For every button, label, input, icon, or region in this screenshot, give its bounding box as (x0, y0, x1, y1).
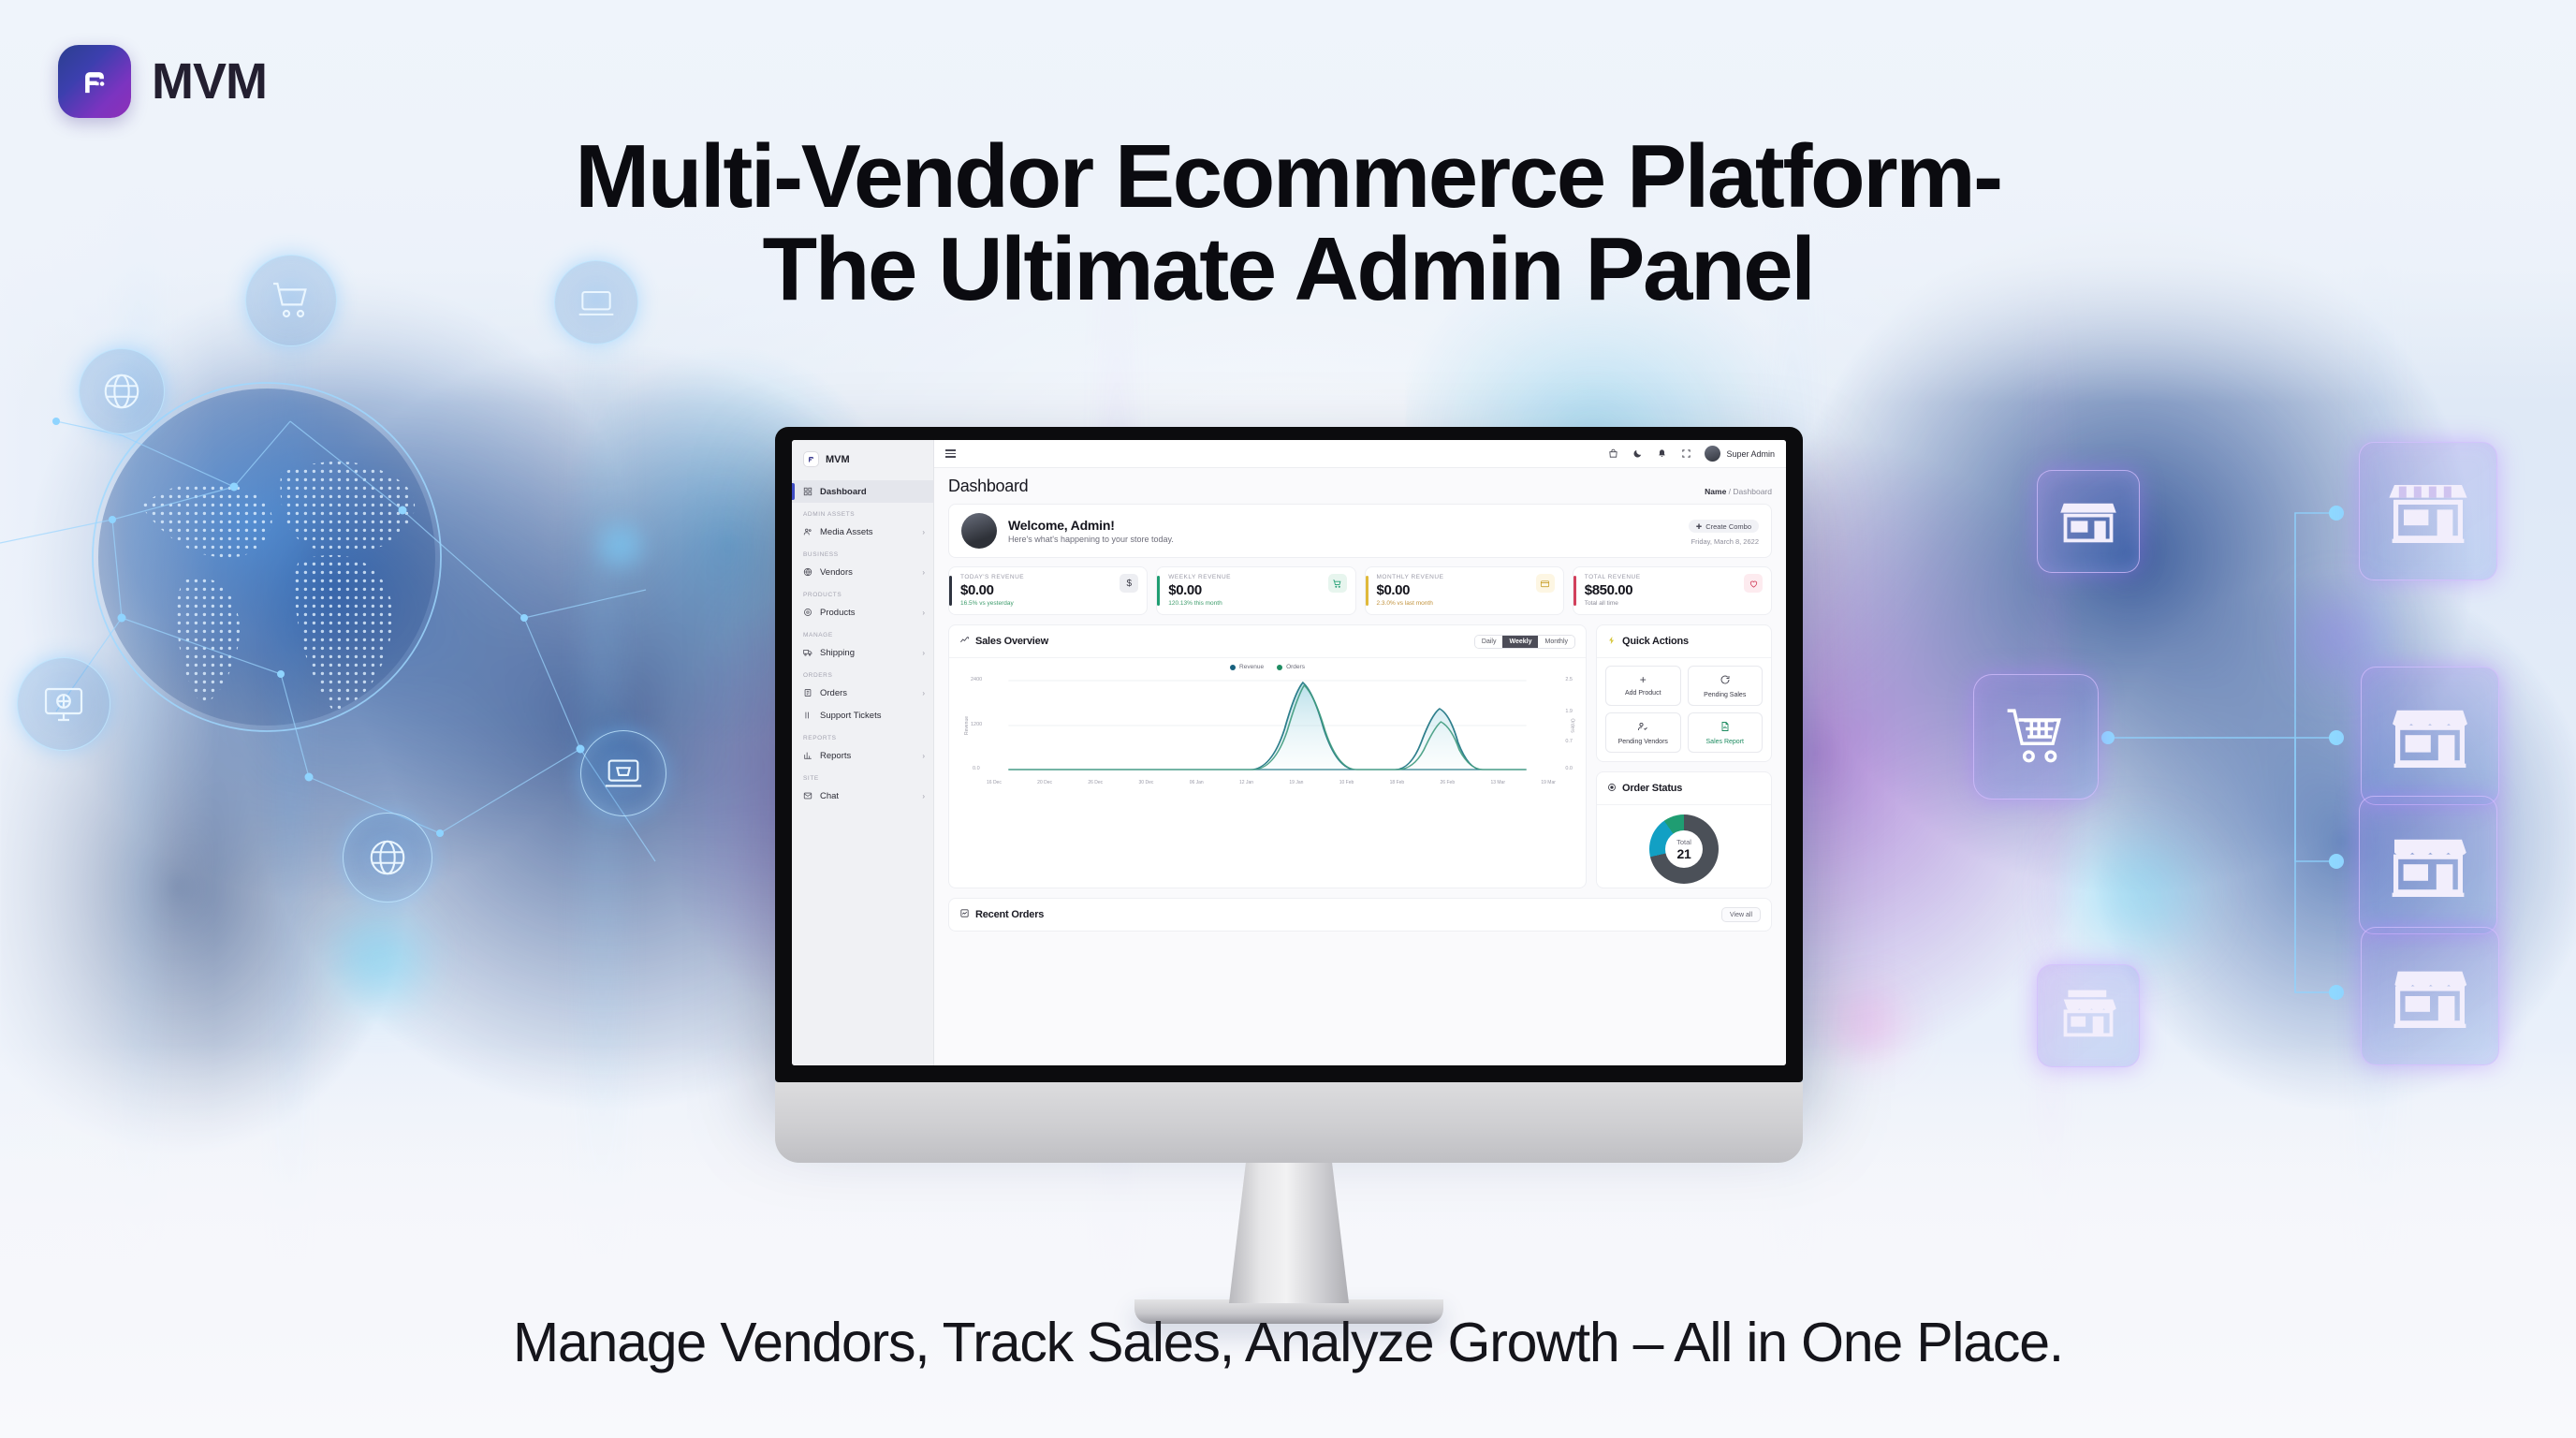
chart-svg (959, 673, 1576, 778)
monitor-stand-neck (1229, 1163, 1349, 1303)
user-check-icon (1610, 721, 1676, 734)
quick-actions-header: Quick Actions (1597, 625, 1771, 658)
sales-report-button[interactable]: Sales Report (1688, 712, 1764, 753)
button-label: Sales Report (1692, 739, 1759, 745)
welcome-meta: ✚ Create Combo Friday, March 8, 2622 (1689, 517, 1759, 546)
sidebar-item-support-tickets[interactable]: Support Tickets (792, 704, 933, 726)
stat-card-monthly-revenue: MONTHLY REVENUE $0.00 2.3.0% vs last mon… (1365, 566, 1564, 615)
order-status-card: Order Status Total 21 (1596, 771, 1772, 888)
breadcrumb-root[interactable]: Name (1705, 487, 1726, 496)
donut-center: Total 21 (1649, 814, 1719, 884)
legend-item-revenue: Revenue (1230, 664, 1264, 670)
segment-monthly[interactable]: Monthly (1538, 636, 1574, 648)
recent-orders-header: Recent Orders View all (949, 899, 1771, 931)
chart-x-tick: 12 Jan (1239, 780, 1253, 785)
grid-icon (802, 486, 813, 497)
welcome-text: Welcome, Admin! Here's what's happening … (1008, 518, 1174, 544)
avatar (961, 513, 997, 549)
right-column: Quick Actions + Add Product (1596, 624, 1772, 888)
breadcrumb-current: Dashboard (1733, 487, 1772, 496)
document-icon (1692, 721, 1759, 734)
dashboard-main: Super Admin Dashboard Name / Dashboard (934, 440, 1786, 1065)
storefront-icon (2359, 442, 2497, 580)
sidebar-item-label: Dashboard (820, 487, 925, 497)
sidebar-item-dashboard[interactable]: Dashboard (792, 480, 933, 503)
store-icon (802, 566, 813, 578)
stat-delta: 16.5% vs yesterday (960, 600, 1120, 607)
sidebar-section-label: BUSINESS (792, 543, 933, 561)
globe-icon (343, 813, 432, 902)
stat-delta: 120.13% this month (1168, 600, 1327, 607)
view-all-button[interactable]: View all (1721, 907, 1761, 922)
truck-icon (802, 647, 813, 658)
wallet-icon (1536, 574, 1555, 593)
dashboard-screen: MVM Dashboard ADMIN ASSETS Media Assets … (792, 440, 1786, 1065)
stat-label: TOTAL REVENUE (1585, 574, 1744, 580)
stat-label: TODAY'S REVENUE (960, 574, 1120, 580)
legend-label: Orders (1286, 664, 1305, 670)
donut-label: Total (1676, 838, 1691, 846)
chevron-right-icon: › (922, 792, 925, 800)
decor-vendor-tree-right (1921, 393, 2576, 1077)
button-label: Pending Sales (1692, 692, 1759, 698)
chevron-right-icon: › (922, 752, 925, 760)
welcome-card: Welcome, Admin! Here's what's happening … (948, 504, 1772, 558)
sidebar-item-shipping[interactable]: Shipping › (792, 641, 933, 664)
chart-x-tick: 10 Feb (1339, 780, 1354, 785)
sidebar-section-label: REPORTS (792, 726, 933, 744)
chart-x-tick: 16 Dec (987, 780, 1002, 785)
stat-card-total-revenue: TOTAL REVENUE $850.00 Total all time (1573, 566, 1772, 615)
bell-icon[interactable] (1656, 448, 1668, 460)
stat-value: $0.00 (1377, 582, 1536, 598)
storefront-icon (2361, 927, 2499, 1065)
sidebar: MVM Dashboard ADMIN ASSETS Media Assets … (792, 440, 934, 1065)
receipt-icon (959, 906, 970, 923)
chevron-right-icon: › (922, 649, 925, 657)
stat-label: WEEKLY REVENUE (1168, 574, 1327, 580)
dashboard-grid: Sales Overview Daily Weekly Monthly Reve… (948, 624, 1772, 888)
chart-plot-area: Revenue Orders 2400 1200 0.0 2.5 1.9 0.7… (959, 673, 1576, 778)
chart-legend: Revenue Orders (959, 664, 1576, 670)
chart-x-tick: 19 Mar (1541, 780, 1556, 785)
pending-sales-button[interactable]: Pending Sales (1688, 666, 1764, 706)
quick-actions-card: Quick Actions + Add Product (1596, 624, 1772, 762)
order-status-header: Order Status (1597, 772, 1771, 805)
stat-delta: Total all time (1585, 600, 1744, 607)
legend-label: Revenue (1239, 664, 1264, 670)
page-header: Dashboard Name / Dashboard (934, 468, 1786, 500)
segment-daily[interactable]: Daily (1475, 636, 1503, 648)
welcome-date: Friday, March 8, 2622 (1689, 537, 1759, 546)
sidebar-section-label: PRODUCTS (792, 583, 933, 601)
chart-x-tick: 13 Mar (1490, 780, 1505, 785)
chart-x-tick: 26 Feb (1441, 780, 1456, 785)
box-icon (802, 607, 813, 618)
avatar (1705, 446, 1720, 462)
order-status-donut: Total 21 (1597, 805, 1771, 888)
dollar-icon: $ (1120, 574, 1138, 593)
sidebar-item-label: Vendors (820, 567, 915, 578)
monitor-mockup: MVM Dashboard ADMIN ASSETS Media Assets … (775, 427, 1803, 1324)
laptop-cart-icon (580, 730, 666, 816)
card-title: Quick Actions (1622, 636, 1689, 647)
sidebar-brand-label: MVM (826, 454, 850, 465)
sidebar-item-chat[interactable]: Chat › (792, 785, 933, 807)
badge-label: Create Combo (1705, 522, 1751, 531)
stat-card-weekly-revenue: WEEKLY REVENUE $0.00 120.13% this month (1156, 566, 1355, 615)
topbar: Super Admin (934, 440, 1786, 468)
sales-overview-header: Sales Overview Daily Weekly Monthly (949, 625, 1586, 658)
stat-card-today-revenue: TODAY'S REVENUE $0.00 16.5% vs yesterday… (948, 566, 1148, 615)
sidebar-item-label: Support Tickets (820, 711, 925, 721)
dark-mode-icon[interactable] (1632, 448, 1644, 460)
decor-network-left (0, 309, 777, 1039)
dashboard-title: Dashboard (948, 477, 1028, 496)
sidebar-brand[interactable]: MVM (792, 440, 933, 480)
page-title: Multi-Vendor Ecommerce Platform- The Ult… (0, 131, 2576, 316)
user-menu[interactable]: Super Admin (1705, 446, 1775, 462)
sidebar-item-orders[interactable]: Orders › (792, 682, 933, 704)
segment-weekly[interactable]: Weekly (1502, 636, 1538, 648)
stat-value: $0.00 (1168, 582, 1327, 598)
pending-vendors-button[interactable]: Pending Vendors (1605, 712, 1681, 753)
cart-icon (1973, 674, 2099, 800)
sidebar-item-label: Orders (820, 688, 915, 698)
sidebar-section-label: ORDERS (792, 664, 933, 682)
chart-x-tick: 19 Jan (1289, 780, 1303, 785)
ticket-icon (802, 710, 813, 721)
legend-item-orders: Orders (1277, 664, 1305, 670)
button-label: Pending Vendors (1610, 739, 1676, 745)
donut-chart: Total 21 (1649, 814, 1719, 884)
chevron-right-icon: › (922, 528, 925, 536)
sidebar-section-label: ADMIN ASSETS (792, 503, 933, 521)
hamburger-icon[interactable] (945, 449, 956, 457)
card-title: Sales Overview (975, 636, 1048, 647)
plus-icon: + (1610, 674, 1676, 685)
quick-actions-grid: + Add Product Pending Sales (1597, 658, 1771, 761)
sidebar-item-label: Chat (820, 791, 915, 801)
brand-logo: MVM (58, 45, 267, 118)
sidebar-item-media-assets[interactable]: Media Assets › (792, 521, 933, 543)
card-title: Recent Orders (975, 909, 1044, 920)
sales-chart: Revenue Orders Revenue Orders 2400 1200 … (949, 658, 1586, 790)
stat-value: $0.00 (960, 582, 1120, 598)
heart-icon (1744, 574, 1763, 593)
sidebar-item-label: Shipping (820, 648, 915, 658)
clipboard-icon (802, 687, 813, 698)
fullscreen-icon[interactable] (1680, 448, 1692, 460)
create-combo-badge[interactable]: ✚ Create Combo (1689, 520, 1759, 533)
add-product-button[interactable]: + Add Product (1605, 666, 1681, 706)
target-icon (1607, 780, 1617, 797)
stat-value: $850.00 (1585, 582, 1744, 598)
sidebar-item-label: Products (820, 608, 915, 618)
recent-orders-card: Recent Orders View all (948, 898, 1772, 932)
card-title: Order Status (1622, 783, 1682, 794)
dashboard-body: Welcome, Admin! Here's what's happening … (934, 500, 1786, 932)
topbar-actions: Super Admin (1607, 446, 1775, 462)
chart-x-tick: 30 Dec (1139, 780, 1154, 785)
storefront-icon (2037, 470, 2140, 573)
sidebar-item-vendors[interactable]: Vendors › (792, 561, 933, 583)
bolt-icon (1607, 633, 1617, 650)
stat-delta: 2.3.0% vs last month (1377, 600, 1536, 607)
stat-label: MONTHLY REVENUE (1377, 574, 1536, 580)
welcome-title: Welcome, Admin! (1008, 518, 1174, 533)
chevron-right-icon: › (922, 609, 925, 617)
mvm-logo-icon (58, 45, 131, 118)
monitor-bezel: MVM Dashboard ADMIN ASSETS Media Assets … (775, 427, 1803, 1082)
sidebar-item-reports[interactable]: Reports › (792, 744, 933, 767)
stat-cards: TODAY'S REVENUE $0.00 16.5% vs yesterday… (948, 566, 1772, 615)
breadcrumb: Name / Dashboard (1705, 487, 1772, 496)
welcome-subtitle: Here's what's happening to your store to… (1008, 535, 1174, 544)
mail-icon (802, 790, 813, 801)
headline-line-1: Multi-Vendor Ecommerce Platform- (575, 126, 2001, 227)
tagline: Manage Vendors, Track Sales, Analyze Gro… (0, 1311, 2576, 1374)
donut-value: 21 (1677, 846, 1691, 861)
chart-x-tick: 18 Feb (1390, 780, 1405, 785)
chart-x-tick: 26 Dec (1088, 780, 1103, 785)
plus-icon: ✚ (1696, 522, 1702, 531)
chart-x-tick: 20 Dec (1037, 780, 1052, 785)
brand-name: MVM (152, 52, 267, 110)
monitor-globe-icon (17, 657, 110, 751)
refresh-icon (1692, 674, 1759, 687)
range-segmented-control: Daily Weekly Monthly (1474, 635, 1575, 649)
storefront-icon (2037, 964, 2140, 1067)
sales-overview-card: Sales Overview Daily Weekly Monthly Reve… (948, 624, 1587, 888)
globe-icon (79, 348, 165, 434)
shop-icon[interactable] (1607, 448, 1619, 460)
sidebar-item-label: Media Assets (820, 527, 915, 537)
cart-icon (1328, 574, 1347, 593)
chart-icon (802, 750, 813, 761)
storefront-icon (2361, 667, 2499, 805)
sidebar-item-label: Reports (820, 751, 915, 761)
chevron-right-icon: › (922, 568, 925, 577)
storefront-icon (2359, 796, 2497, 934)
chevron-right-icon: › (922, 689, 925, 697)
button-label: Add Product (1610, 690, 1676, 697)
chart-x-tick: 06 Jan (1190, 780, 1204, 785)
sidebar-section-label: MANAGE (792, 624, 933, 641)
monitor-chin (775, 1082, 1803, 1163)
chart-x-axis: 16 Dec 20 Dec 26 Dec 30 Dec 06 Jan 12 Ja… (959, 778, 1576, 785)
sidebar-section-label: SITE (792, 767, 933, 785)
users-icon (802, 526, 813, 537)
mvm-logo-icon (803, 451, 819, 467)
username-label: Super Admin (1726, 449, 1775, 459)
headline-line-2: The Ultimate Admin Panel (0, 224, 2576, 316)
trend-icon (959, 633, 970, 650)
sidebar-item-products[interactable]: Products › (792, 601, 933, 624)
